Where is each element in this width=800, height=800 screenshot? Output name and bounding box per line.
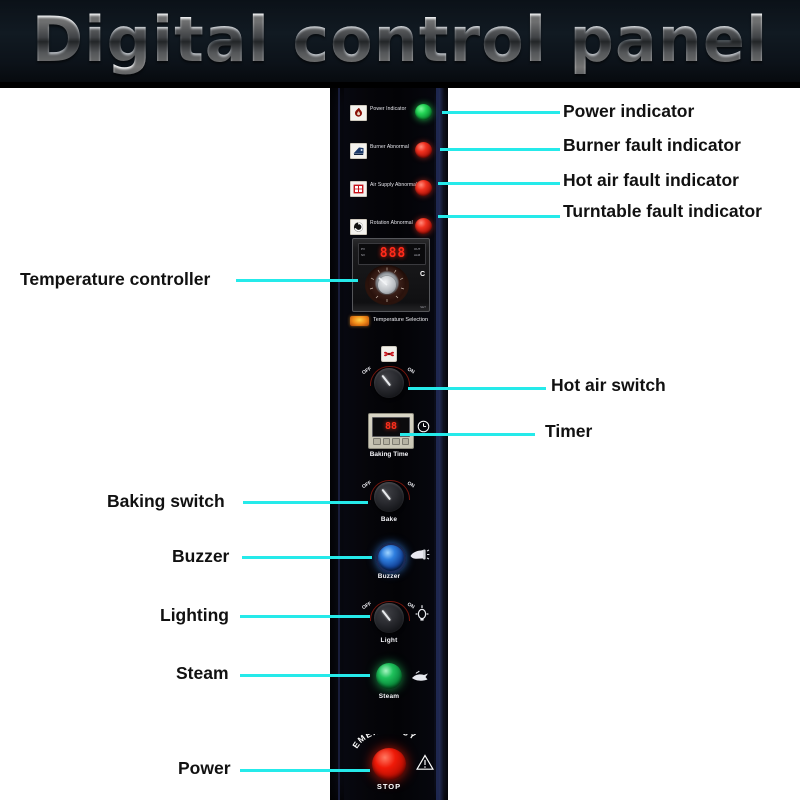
leader-buzzer xyxy=(242,556,372,559)
leader-power-indicator xyxy=(442,111,560,114)
timer-key[interactable] xyxy=(402,438,410,445)
light-off-label: OFF xyxy=(361,601,373,611)
indicator-label-rotation: Rotation Abnormal xyxy=(370,220,413,226)
leader-power xyxy=(240,769,370,772)
timer-key[interactable] xyxy=(373,438,381,445)
indicator-row-burner: Burner Abnormal xyxy=(330,140,448,162)
leader-hot-air-switch xyxy=(408,387,546,390)
timer-key[interactable] xyxy=(392,438,400,445)
temp-pv-label: PV xyxy=(361,247,365,251)
timer-display-unit[interactable]: 88 xyxy=(368,413,414,449)
control-panel: Power Indicator Burner Abnormal Air Supp… xyxy=(330,88,448,800)
callout-timer: Timer xyxy=(545,421,592,441)
bake-on-label: ON xyxy=(406,481,415,490)
callout-turntable-fault: Turntable fault indicator xyxy=(563,201,762,221)
buzzer-caption: Buzzer xyxy=(330,573,448,580)
hot-air-switch-knob[interactable] xyxy=(374,368,404,398)
steam-caption: Steam xyxy=(330,693,448,700)
led-rotation-abnormal xyxy=(415,218,432,234)
temp-alm-label: ALM xyxy=(414,253,420,257)
temperature-dial-ticks xyxy=(365,265,409,305)
title-banner: Digital control panel xyxy=(0,0,800,88)
temperature-controller-brand: SET xyxy=(420,305,426,309)
hot-air-on-label: ON xyxy=(406,367,415,376)
leader-temperature-controller xyxy=(236,279,358,282)
buzzer-module[interactable]: Buzzer xyxy=(330,543,448,589)
callout-lighting: Lighting xyxy=(160,605,229,625)
bake-switch-knob[interactable] xyxy=(374,482,404,512)
hot-air-switch[interactable]: OFF ON xyxy=(330,346,448,400)
burner-nozzle-icon xyxy=(350,143,367,159)
callout-baking-switch: Baking switch xyxy=(107,491,225,511)
temperature-display: PV SV OUT ALM 888 xyxy=(358,243,426,265)
bulb-icon xyxy=(414,604,430,624)
light-switch[interactable]: OFF ON Light xyxy=(330,601,448,651)
callout-buzzer: Buzzer xyxy=(172,546,229,566)
leader-baking-switch xyxy=(243,501,368,504)
temp-sv-label: SV xyxy=(361,253,365,257)
indicator-row-power: Power Indicator xyxy=(330,102,448,124)
callout-hot-air-fault: Hot air fault indicator xyxy=(563,170,739,190)
emergency-stop-bottom-text: STOP xyxy=(330,782,448,791)
indicator-label-air-supply: Air Supply Abnormal xyxy=(370,182,417,188)
light-switch-knob[interactable] xyxy=(374,603,404,633)
temperature-controller[interactable]: PV SV OUT ALM 888 C xyxy=(352,238,430,312)
steam-module[interactable]: Steam xyxy=(330,663,448,709)
callout-power-indicator: Power indicator xyxy=(563,101,694,121)
light-caption: Light xyxy=(330,637,448,644)
page-title: Digital control panel xyxy=(0,3,800,76)
air-supply-icon xyxy=(350,181,367,197)
burner-flame-icon xyxy=(350,105,367,121)
timer-keypad[interactable] xyxy=(373,438,409,445)
temperature-display-value: 888 xyxy=(375,246,411,261)
indicator-row-air-supply: Air Supply Abnormal xyxy=(330,178,448,200)
timer-module[interactable]: 88 Baking Time xyxy=(330,413,448,469)
clock-icon xyxy=(417,420,430,433)
led-air-supply-abnormal xyxy=(415,180,432,196)
temperature-unit-label: C xyxy=(420,271,425,278)
leader-turntable-fault xyxy=(438,215,560,218)
fan-icon xyxy=(381,346,397,362)
temperature-selection-caption: Temperature Selection xyxy=(373,317,428,323)
rotation-icon xyxy=(350,219,367,235)
callout-hot-air-switch: Hot air switch xyxy=(551,375,666,395)
steam-button[interactable] xyxy=(376,663,402,689)
bake-switch[interactable]: OFF ON Bake xyxy=(330,480,448,530)
screenshot-root: Digital control panel Power Indicator Bu… xyxy=(0,0,800,800)
leader-burner-fault xyxy=(440,148,560,151)
horn-icon xyxy=(408,547,430,564)
led-burner-abnormal xyxy=(415,142,432,158)
leader-hot-air-fault xyxy=(438,182,560,185)
callout-steam: Steam xyxy=(176,663,229,683)
temperature-selection-badge-icon xyxy=(350,316,369,326)
indicator-row-rotation: Rotation Abnormal xyxy=(330,216,448,238)
buzzer-button[interactable] xyxy=(376,543,406,573)
bake-off-label: OFF xyxy=(361,480,373,490)
steam-icon xyxy=(410,669,430,683)
timer-key[interactable] xyxy=(383,438,391,445)
warning-triangle-icon xyxy=(416,754,434,771)
bake-knob-pointer xyxy=(381,489,391,500)
timer-caption: Baking Time xyxy=(330,451,448,458)
temp-out-label: OUT xyxy=(414,247,420,251)
callout-temperature-controller: Temperature controller xyxy=(20,269,210,289)
callout-burner-fault: Burner fault indicator xyxy=(563,135,741,155)
indicator-label-power: Power Indicator xyxy=(370,106,406,112)
bake-caption: Bake xyxy=(330,516,448,523)
timer-display-value: 88 xyxy=(373,421,409,432)
emergency-stop-button[interactable] xyxy=(372,748,406,780)
callout-power: Power xyxy=(178,758,231,778)
light-knob-pointer xyxy=(381,610,391,621)
leader-lighting xyxy=(240,615,370,618)
hot-air-knob-pointer xyxy=(381,375,391,386)
hot-air-off-label: OFF xyxy=(361,366,373,376)
leader-timer xyxy=(400,433,535,436)
leader-steam xyxy=(240,674,370,677)
emergency-stop-module[interactable]: EMERGENCY STOP xyxy=(330,728,448,800)
led-power-indicator xyxy=(415,104,432,120)
indicator-label-burner: Burner Abnormal xyxy=(370,144,409,150)
